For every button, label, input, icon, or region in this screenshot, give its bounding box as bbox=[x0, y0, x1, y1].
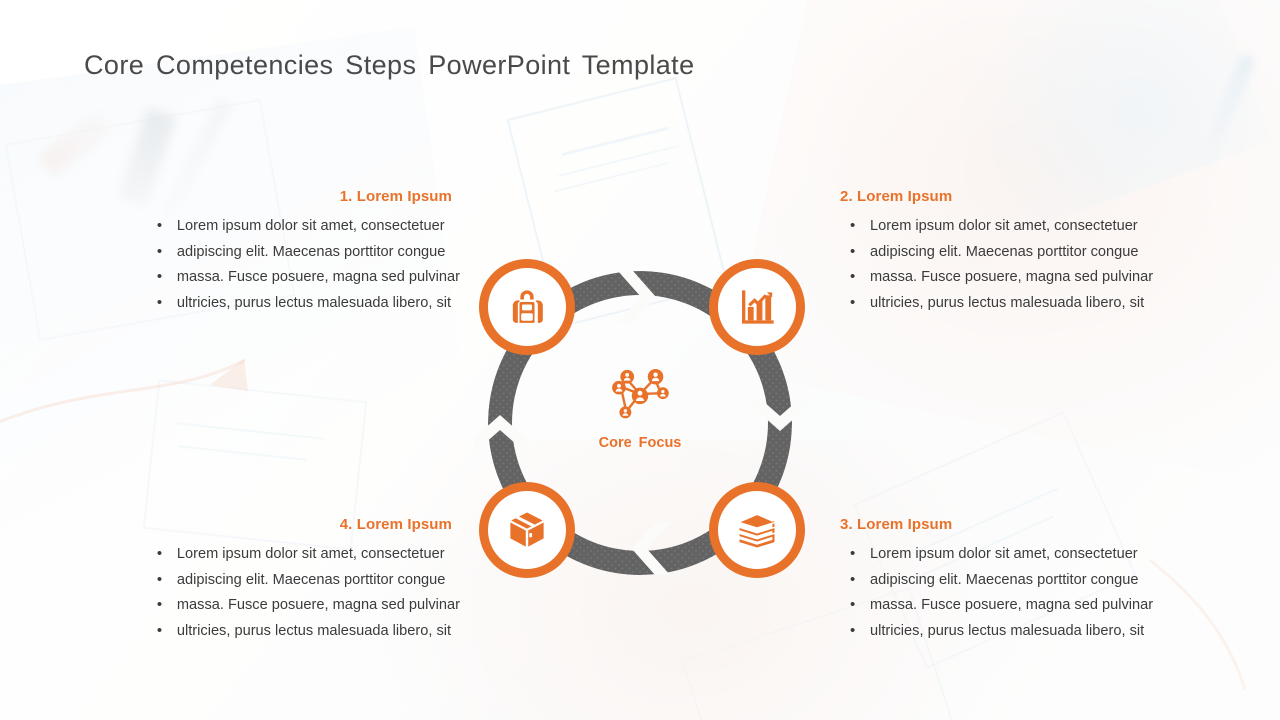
competency-block-4: 4. Lorem Ipsum Lorem ipsum dolor sit ame… bbox=[80, 516, 460, 644]
competency-bullets-2: Lorem ipsum dolor sit amet, consectetuer… bbox=[840, 214, 1220, 316]
list-item: massa. Fusce posuere, magna sed pulvinar bbox=[840, 265, 1220, 291]
list-item: Lorem ipsum dolor sit amet, consectetuer bbox=[840, 542, 1220, 568]
list-item: adipiscing elit. Maecenas porttitor cong… bbox=[147, 240, 460, 266]
list-item: adipiscing elit. Maecenas porttitor cong… bbox=[840, 240, 1220, 266]
bar-chart-growth-icon bbox=[737, 287, 777, 327]
cycle-node-4[interactable] bbox=[479, 482, 575, 578]
competency-block-1: 1. Lorem Ipsum Lorem ipsum dolor sit ame… bbox=[80, 188, 460, 316]
competency-heading-1: 1. Lorem Ipsum bbox=[80, 188, 460, 205]
list-item: massa. Fusce posuere, magna sed pulvinar bbox=[147, 265, 460, 291]
list-item: ultricies, purus lectus malesuada libero… bbox=[840, 291, 1220, 317]
competency-bullets-1: Lorem ipsum dolor sit amet, consectetuer… bbox=[147, 214, 460, 316]
list-item: massa. Fusce posuere, magna sed pulvinar bbox=[840, 593, 1220, 619]
list-item: Lorem ipsum dolor sit amet, consectetuer bbox=[147, 214, 460, 240]
backpack-icon bbox=[507, 287, 547, 327]
list-item: ultricies, purus lectus malesuada libero… bbox=[840, 619, 1220, 645]
list-item: ultricies, purus lectus malesuada libero… bbox=[147, 619, 460, 645]
competency-block-3: 3. Lorem Ipsum Lorem ipsum dolor sit ame… bbox=[840, 516, 1220, 644]
list-item: ultricies, purus lectus malesuada libero… bbox=[147, 291, 460, 317]
core-focus-label: Core Focus bbox=[599, 435, 682, 451]
list-item: Lorem ipsum dolor sit amet, consectetuer bbox=[147, 542, 460, 568]
stacked-books-icon bbox=[736, 509, 778, 551]
list-item: adipiscing elit. Maecenas porttitor cong… bbox=[147, 568, 460, 594]
cycle-node-3[interactable] bbox=[709, 482, 805, 578]
people-network-icon bbox=[607, 363, 673, 427]
cycle-node-1[interactable] bbox=[479, 259, 575, 355]
competency-bullets-4: Lorem ipsum dolor sit amet, consectetuer… bbox=[147, 542, 460, 644]
competency-bullets-3: Lorem ipsum dolor sit amet, consectetuer… bbox=[840, 542, 1220, 644]
core-competency-cycle-diagram: Core Focus bbox=[470, 248, 810, 598]
list-item: massa. Fusce posuere, magna sed pulvinar bbox=[147, 593, 460, 619]
core-focus-center: Core Focus bbox=[560, 363, 720, 493]
competency-block-2: 2. Lorem Ipsum Lorem ipsum dolor sit ame… bbox=[840, 188, 1220, 316]
competency-heading-2: 2. Lorem Ipsum bbox=[840, 188, 1220, 205]
cycle-node-2[interactable] bbox=[709, 259, 805, 355]
list-item: adipiscing elit. Maecenas porttitor cong… bbox=[840, 568, 1220, 594]
package-box-icon bbox=[506, 509, 548, 551]
page-title: Core Competencies Steps PowerPoint Templ… bbox=[84, 50, 695, 81]
competency-heading-3: 3. Lorem Ipsum bbox=[840, 516, 1220, 533]
competency-heading-4: 4. Lorem Ipsum bbox=[80, 516, 460, 533]
list-item: Lorem ipsum dolor sit amet, consectetuer bbox=[840, 214, 1220, 240]
